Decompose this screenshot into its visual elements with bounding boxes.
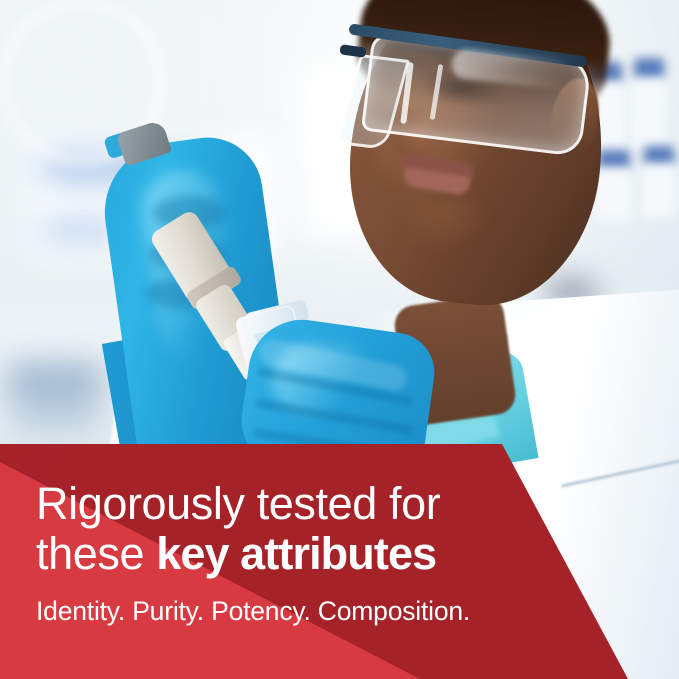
headline-line-2-bold: key attributes	[156, 528, 436, 579]
banner-headline: Rigorously tested for these key attribut…	[36, 479, 556, 579]
headline-line-2: these key attributes	[36, 529, 556, 579]
promo-banner-image: Rigorously tested for these key attribut…	[0, 0, 679, 679]
headline-line-1: Rigorously tested for	[36, 479, 556, 529]
chin	[398, 198, 488, 248]
banner-subheadline: Identity. Purity. Potency. Composition.	[36, 596, 556, 626]
headline-line-2-light: these	[36, 528, 156, 579]
banner-text-block: Rigorously tested for these key attribut…	[36, 479, 556, 626]
